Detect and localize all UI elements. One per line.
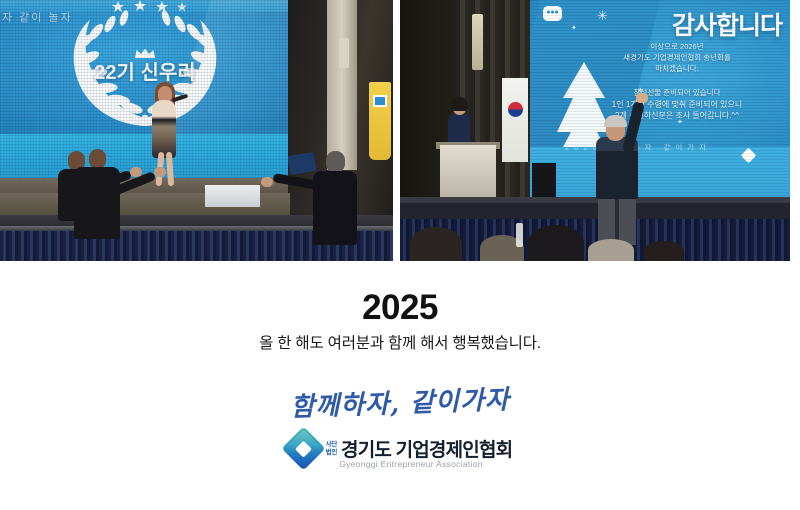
corp-type-line-1: 사단 <box>326 441 337 448</box>
audience-head <box>528 225 584 261</box>
speaker-woman-hair <box>451 97 468 111</box>
calligraphy-slogan: 함께하자, 같이가자 <box>0 369 800 434</box>
screen-paragraph-1: 이상으로 2026년 새경기도 기업경제인협회 송년회를 마치겠습니다. <box>582 42 772 75</box>
led-top-text: 자 같이 놀자 <box>2 9 73 25</box>
diamond-decor-icon <box>741 148 757 164</box>
led-top-strip <box>0 0 290 12</box>
event-photo-left[interactable]: 자 같이 놀자 22기 신우리 경기도 기업경제인협회 <box>0 0 393 261</box>
led-title-text: 22기 신우리 <box>94 56 195 85</box>
page-root: 자 같이 놀자 22기 신우리 경기도 기업경제인협회 <box>0 0 800 510</box>
audience-head <box>588 239 634 261</box>
presenter-hand <box>636 93 648 103</box>
snowflake-icon: ✳ <box>721 150 730 163</box>
stage-led-screen-right: ✳ ✦ ✦ ✦ ✦ ✳ ✳ 감사합니다 이상으로 2026년 새경기도 기업경제… <box>525 0 790 205</box>
guest-torso <box>74 167 120 239</box>
photo-strip: 자 같이 놀자 22기 신우리 경기도 기업경제인협회 <box>0 0 800 261</box>
association-name-en: Gyeonggi Entrepreneur Association <box>0 459 800 469</box>
guest-head <box>326 151 345 173</box>
flag-emblem-inner <box>375 97 385 105</box>
content-area: 2025 올 한 해도 여러분과 함께 해서 행복했습니다. 함께하자, 같이가… <box>0 261 800 510</box>
corp-type-line-2: 법인 <box>326 449 337 456</box>
wall-lamp <box>339 38 349 68</box>
snowflake-icon: ✦ <box>677 118 683 126</box>
screen-footer-text: 2026 함께하자 같이가자 <box>565 142 711 153</box>
taegeuk-icon <box>508 102 523 117</box>
guest-person-3 <box>313 151 357 245</box>
snowflake-icon: ✦ <box>563 124 570 133</box>
wall-lamp-right <box>472 14 483 70</box>
year-heading: 2025 <box>0 288 800 328</box>
stage-led-screen-left: 자 같이 놀자 22기 신우리 경기도 기업경제인협회 <box>0 0 290 178</box>
podium <box>440 145 496 203</box>
photo-gap-divider <box>393 0 400 261</box>
guest-head <box>89 149 106 169</box>
stage-prop-box <box>205 185 260 207</box>
water-bottle <box>516 223 523 247</box>
guest-person-2 <box>74 149 120 239</box>
photo-right-margin <box>790 0 800 261</box>
snowflake-icon: ✦ <box>571 24 577 32</box>
smiley-decor-icon <box>543 6 562 21</box>
corporate-type-label: 사단 법인 <box>326 441 337 456</box>
guest-hand <box>154 167 166 177</box>
snowflake-icon: ✳ <box>597 8 608 24</box>
crown-icon <box>134 46 156 57</box>
logo-text-group: 사단 법인 경기도 기업경제인협회 <box>326 435 513 462</box>
screen-title-thanks: 감사합니다 <box>672 6 782 42</box>
guest-torso <box>313 171 357 245</box>
laurel-wreath-icon <box>62 8 228 134</box>
hall-pillar <box>327 0 357 170</box>
singer-body <box>152 100 176 158</box>
presenter-legs <box>598 195 636 245</box>
audience-head <box>410 227 462 261</box>
guest-hand <box>261 177 273 187</box>
led-lower-band <box>0 134 290 178</box>
association-name-ko: 경기도 기업경제인협회 <box>341 435 512 462</box>
presenter-hair <box>604 115 627 127</box>
audience-head <box>644 241 684 261</box>
association-flag <box>369 82 391 160</box>
korean-flag <box>502 78 528 162</box>
event-photo-right[interactable]: ✳ ✦ ✦ ✦ ✦ ✳ ✳ 감사합니다 이상으로 2026년 새경기도 기업경제… <box>400 0 790 261</box>
stars-decor-icon <box>110 0 190 14</box>
tagline-text: 올 한 해도 여러분과 함께 해서 행복했습니다. <box>0 331 800 353</box>
